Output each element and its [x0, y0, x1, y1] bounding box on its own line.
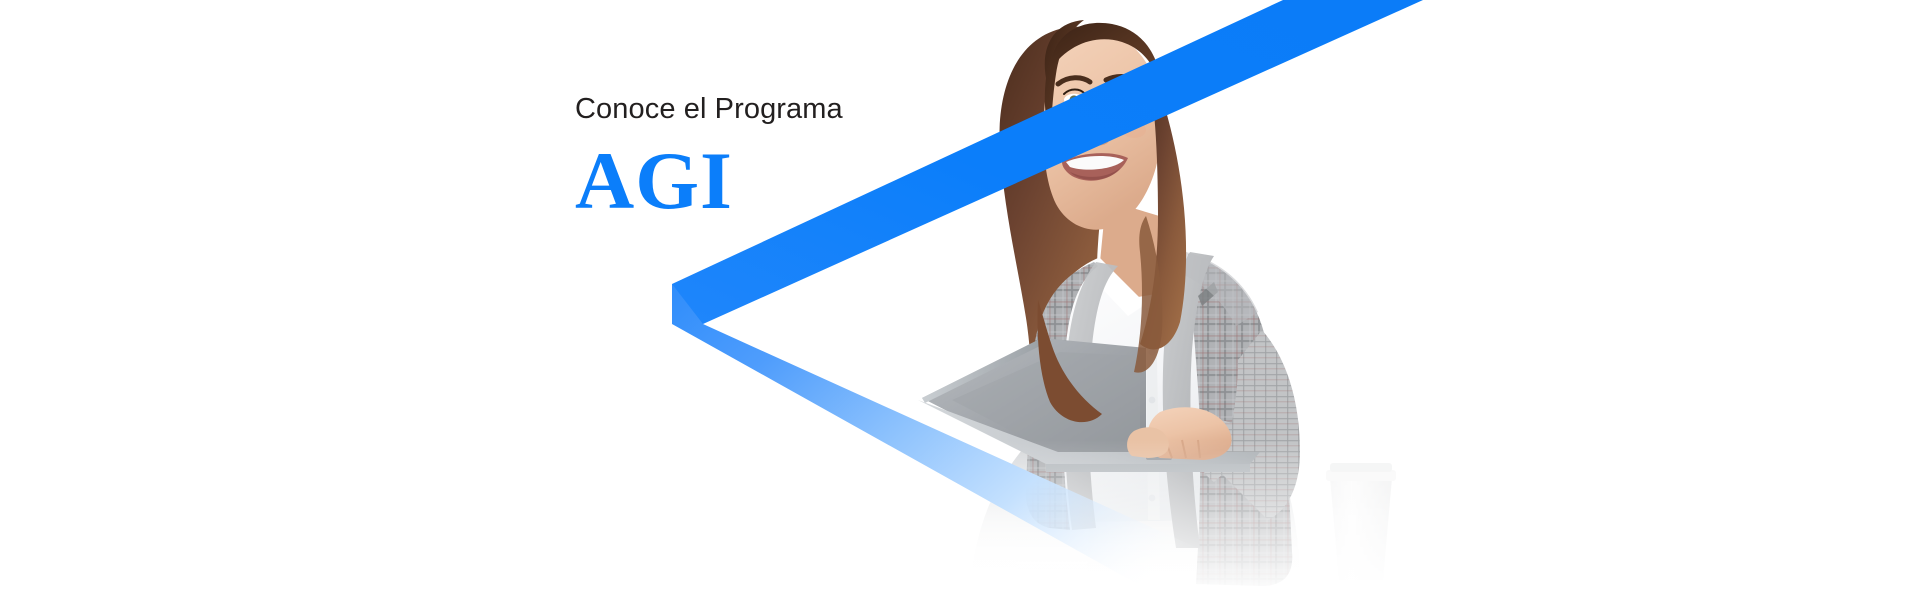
hair-side-right: [1140, 86, 1186, 349]
neck: [1100, 200, 1168, 298]
photo-svg: [0, 0, 1920, 590]
head: [1043, 29, 1161, 229]
headline-block: Conoce el Programa AGI: [575, 93, 843, 222]
businesswoman-photo: [0, 0, 1920, 590]
hair-back: [999, 27, 1121, 426]
brand-title: AGI: [575, 140, 843, 222]
eyebrow-left: [1058, 78, 1090, 84]
eyebrow-text: Conoce el Programa: [575, 93, 843, 126]
laptop-lid-edge: [922, 338, 1044, 403]
chevron-svg: [0, 0, 1920, 590]
face: [1043, 29, 1161, 229]
cheek: [1050, 125, 1078, 143]
white-blouse: [1036, 256, 1256, 522]
coffee-cup-icon: [1326, 463, 1396, 580]
blazer-right-panel: [1188, 254, 1292, 586]
blouse-collar-right: [1150, 256, 1200, 318]
blouse-buttons: [1149, 349, 1156, 502]
eyes: [1064, 87, 1135, 107]
blouse-placket: [1146, 308, 1160, 520]
laptop-icon: [918, 338, 1260, 472]
eyebrow-right: [1106, 77, 1142, 84]
laptop-trackpad-hint: [1146, 456, 1172, 460]
laptop-lid: [922, 338, 1146, 462]
mouth: [1062, 153, 1128, 181]
laptop-lid-shade: [952, 352, 1140, 452]
blazer-right-lapel: [1163, 252, 1214, 548]
blazer-shoulder: [1182, 252, 1258, 326]
hair-front-left: [1045, 20, 1084, 132]
laptop-base-front: [1046, 464, 1250, 472]
blazer-left-lapel: [1065, 262, 1118, 530]
photo-bottom-fade: [880, 440, 1440, 590]
blazer-sleeve: [1218, 330, 1300, 520]
blue-chevron-graphic: [0, 0, 1920, 590]
desk-reflection: [970, 426, 1300, 590]
hero-banner: Conoce el Programa AGI: [0, 0, 1920, 590]
nose: [1092, 108, 1108, 144]
left-hand: [1127, 427, 1169, 458]
chevron-lower-arm: [672, 284, 1290, 590]
blouse-collar-left: [1092, 258, 1146, 316]
blazer-left-panel: [1026, 262, 1098, 530]
hair-top: [1050, 23, 1162, 96]
blazer-lapel-notch: [1198, 282, 1218, 306]
hair-lock-left: [1038, 300, 1103, 422]
laptop-base: [918, 400, 1260, 464]
right-hand-fingers: [1166, 440, 1200, 458]
blazer-cuff: [1195, 420, 1252, 482]
right-hand: [1147, 407, 1231, 460]
hands: [1127, 407, 1232, 460]
hair-strand-over-shoulder: [1134, 216, 1162, 373]
